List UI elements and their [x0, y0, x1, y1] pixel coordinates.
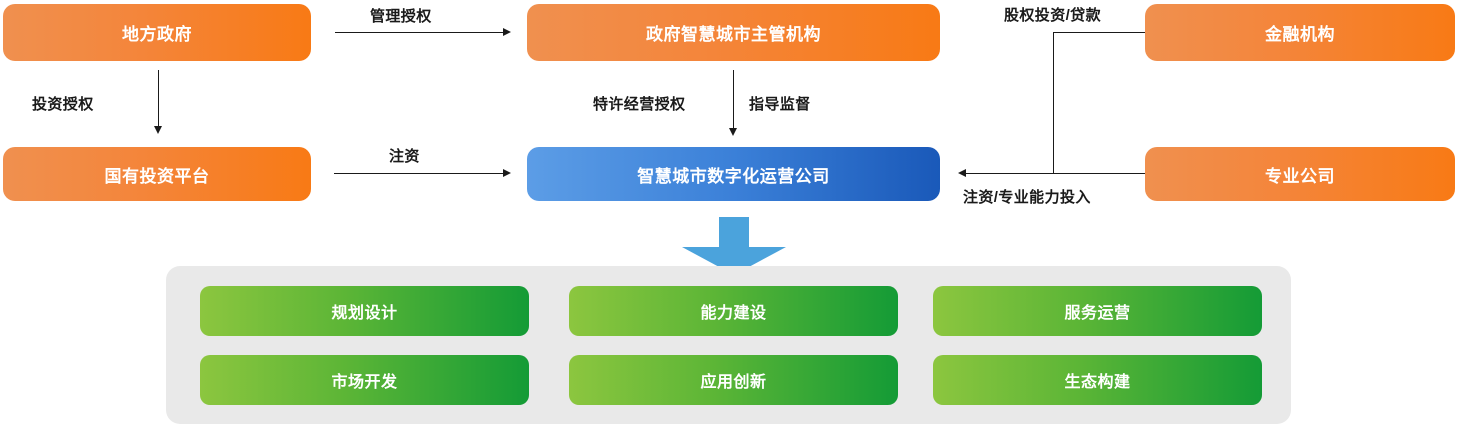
edge-label-capital-injection: 注资 — [389, 145, 420, 166]
node-operating-company-label: 智慧城市数字化运营公司 — [637, 162, 830, 187]
node-local-government[interactable]: 地方政府 — [3, 4, 311, 61]
capability-chip-ecosystem-building[interactable]: 生态构建 — [933, 355, 1262, 405]
capability-chip-label: 应用创新 — [700, 368, 766, 392]
capability-chip-market-development[interactable]: 市场开发 — [200, 355, 529, 405]
node-professional-company-label: 专业公司 — [1265, 162, 1335, 187]
node-professional-company[interactable]: 专业公司 — [1145, 147, 1455, 201]
node-local-government-label: 地方政府 — [122, 20, 192, 45]
connector-management-authorization-arrowhead — [503, 28, 511, 36]
connector-equity-investment-vertical-line — [1053, 32, 1054, 174]
capability-chip-application-innovation[interactable]: 应用创新 — [569, 355, 898, 405]
capability-chip-label: 服务运营 — [1064, 299, 1130, 323]
edge-label-equity-investment-loan: 股权投资/贷款 — [1004, 4, 1101, 25]
node-financial-institution-label: 金融机构 — [1265, 20, 1335, 45]
connector-investment-authorization-arrowhead — [154, 126, 162, 134]
node-gov-smartcity-authority-label: 政府智慧城市主管机构 — [646, 20, 821, 45]
connector-capital-injection-arrowhead — [503, 169, 511, 177]
connector-management-authorization-line — [335, 32, 503, 33]
node-operating-company[interactable]: 智慧城市数字化运营公司 — [527, 147, 940, 201]
connector-capital-capability-line — [966, 173, 1145, 174]
node-state-investment-platform[interactable]: 国有投资平台 — [3, 147, 311, 201]
connector-equity-investment-top-line — [1053, 32, 1145, 33]
connector-franchise-supervision-line — [733, 70, 734, 128]
node-gov-smartcity-authority[interactable]: 政府智慧城市主管机构 — [527, 4, 940, 61]
capability-chip-planning-design[interactable]: 规划设计 — [200, 286, 529, 336]
capability-chip-capability-building[interactable]: 能力建设 — [569, 286, 898, 336]
capability-chip-label: 生态构建 — [1064, 368, 1130, 392]
connector-capital-capability-arrowhead — [958, 169, 966, 177]
node-state-investment-platform-label: 国有投资平台 — [105, 162, 210, 187]
edge-label-franchise-authorization: 特许经营授权 — [593, 93, 685, 114]
connector-investment-authorization-line — [158, 70, 159, 126]
capability-chip-label: 能力建设 — [700, 299, 766, 323]
capability-chip-label: 规划设计 — [331, 299, 397, 323]
capability-chip-label: 市场开发 — [331, 368, 397, 392]
connector-capital-injection-line — [334, 173, 503, 174]
edge-label-capital-and-capability: 注资/专业能力投入 — [963, 186, 1091, 207]
node-financial-institution[interactable]: 金融机构 — [1145, 4, 1455, 61]
edge-label-management-authorization: 管理授权 — [370, 5, 432, 26]
edge-label-investment-authorization: 投资授权 — [32, 93, 94, 114]
connector-franchise-supervision-arrowhead — [729, 128, 737, 136]
diagram-canvas: 地方政府 政府智慧城市主管机构 金融机构 国有投资平台 智慧城市数字化运营公司 … — [0, 0, 1458, 432]
edge-label-guidance-supervision: 指导监督 — [749, 93, 811, 114]
capability-chip-service-operation[interactable]: 服务运营 — [933, 286, 1262, 336]
